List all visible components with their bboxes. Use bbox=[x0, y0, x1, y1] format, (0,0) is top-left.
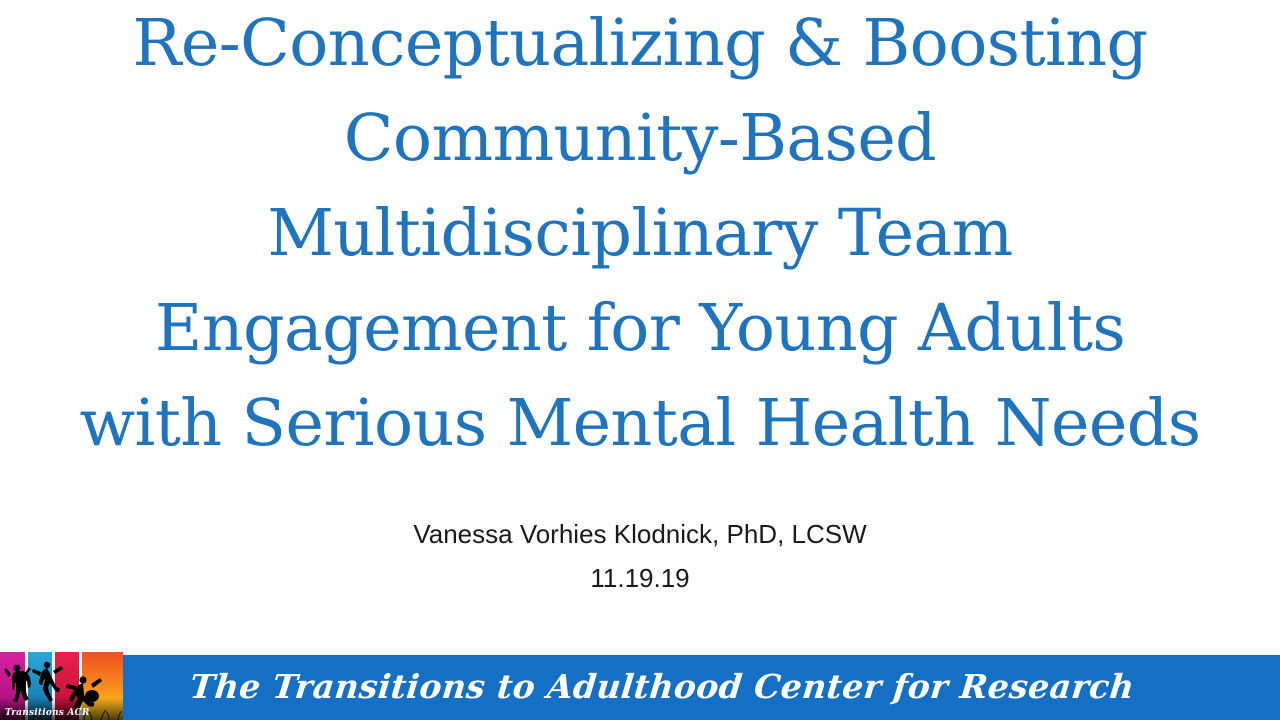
transitions-acr-logo: Transitions ACR bbox=[0, 652, 123, 720]
title-line-5: with Serious Mental Health Needs bbox=[0, 376, 1280, 471]
title-line-1: Re-Conceptualizing & Boosting bbox=[0, 0, 1280, 91]
presentation-slide: Re-Conceptualizing & Boosting Community-… bbox=[0, 0, 1280, 720]
slide-subtitle: Vanessa Vorhies Klodnick, PhD, LCSW 11.1… bbox=[0, 512, 1280, 600]
slide-title: Re-Conceptualizing & Boosting Community-… bbox=[0, 0, 1280, 471]
title-line-3: Multidisciplinary Team bbox=[0, 186, 1280, 281]
title-line-4: Engagement for Young Adults bbox=[0, 281, 1280, 376]
presentation-date: 11.19.19 bbox=[0, 556, 1280, 600]
presenter-name: Vanessa Vorhies Klodnick, PhD, LCSW bbox=[0, 512, 1280, 556]
logo-caption: Transitions ACR bbox=[5, 708, 90, 719]
title-line-2: Community-Based bbox=[0, 91, 1280, 186]
footer-center-name: The Transitions to Adulthood Center for … bbox=[188, 667, 1136, 707]
